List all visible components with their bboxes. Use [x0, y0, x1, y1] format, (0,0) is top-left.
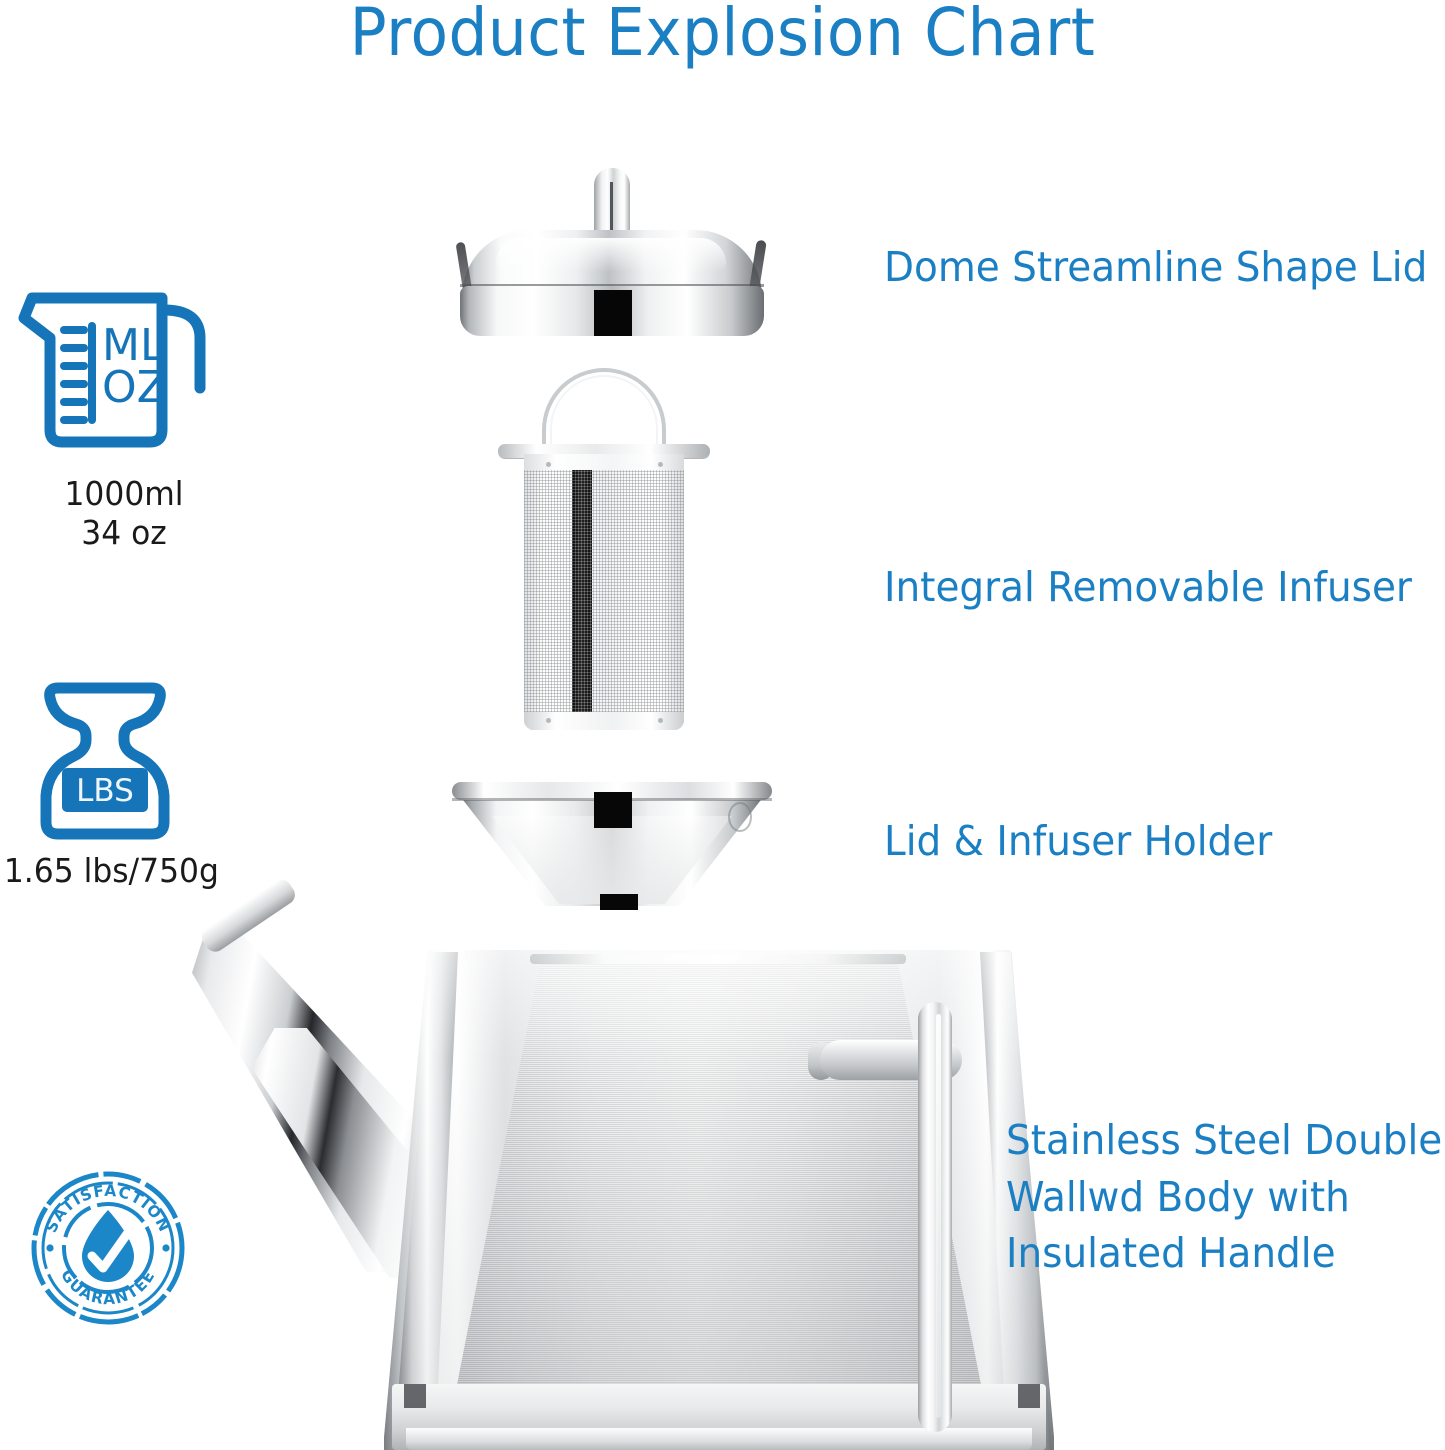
page-title: Product Explosion Chart — [51, 0, 1395, 71]
infuser-rivet — [658, 462, 663, 467]
teapot-handle-grip-highlight — [936, 1014, 941, 1418]
lbs-label: LBS — [76, 773, 134, 809]
check-droplet-icon — [82, 1210, 134, 1282]
infuser-center-reflection-stripe — [572, 454, 592, 730]
satisfaction-guarantee-badge: SATISFACTION GUARANTEE — [28, 1168, 188, 1328]
spec-weight: LBS 1.65 lbs/750g — [12, 672, 232, 891]
measuring-cup-oz-label: OZ — [102, 362, 167, 413]
infuser-rivet — [546, 462, 551, 467]
holder-cone-inner-shade — [492, 816, 732, 904]
product-part-holder — [452, 782, 772, 922]
weight-bottle-icon: LBS — [12, 672, 232, 847]
callout-label-body-line2: Wallwd Body with — [1006, 1169, 1442, 1226]
weight-value: 1.65 lbs/750g — [4, 852, 226, 891]
callout-label-lid: Dome Streamline Shape Lid — [884, 240, 1427, 294]
lid-dome-highlight — [496, 238, 726, 272]
teapot-foot — [1018, 1384, 1040, 1408]
holder-screw-detail — [728, 802, 752, 832]
badge-dot-left — [46, 1244, 53, 1251]
infuser-mesh-basket — [524, 454, 684, 730]
holder-reflection-mark-top — [594, 792, 632, 828]
capacity-metric-value: 1000ml — [20, 475, 229, 514]
teapot-handle-grip — [918, 1002, 952, 1432]
infographic-canvas: Product Explosion Chart ML OZ 1000ml 34 … — [0, 0, 1445, 1450]
holder-reflection-mark-bottom — [600, 894, 638, 910]
teapot-frame-shadow — [384, 950, 1054, 1450]
callout-label-body: Stainless Steel Double Wallwd Body with … — [1006, 1112, 1442, 1282]
measuring-cup-icon: ML OZ — [14, 280, 234, 470]
spec-capacity: ML OZ 1000ml 34 oz — [14, 280, 234, 553]
product-part-dome-lid — [452, 168, 772, 338]
capacity-imperial-value: 34 oz — [20, 514, 229, 553]
callout-label-body-line1: Stainless Steel Double — [1006, 1112, 1442, 1169]
callout-label-holder: Lid & Infuser Holder — [884, 814, 1272, 868]
teapot-foot — [404, 1384, 426, 1408]
product-part-teapot-body — [180, 932, 1000, 1450]
callout-label-infuser: Integral Removable Infuser — [884, 560, 1412, 614]
lid-reflection-mark — [594, 290, 632, 336]
infuser-rivet — [546, 718, 551, 723]
callout-label-body-line3: Insulated Handle — [1006, 1225, 1442, 1282]
product-part-infuser — [498, 368, 710, 736]
badge-dot-right — [162, 1244, 169, 1251]
infuser-rivet — [658, 718, 663, 723]
